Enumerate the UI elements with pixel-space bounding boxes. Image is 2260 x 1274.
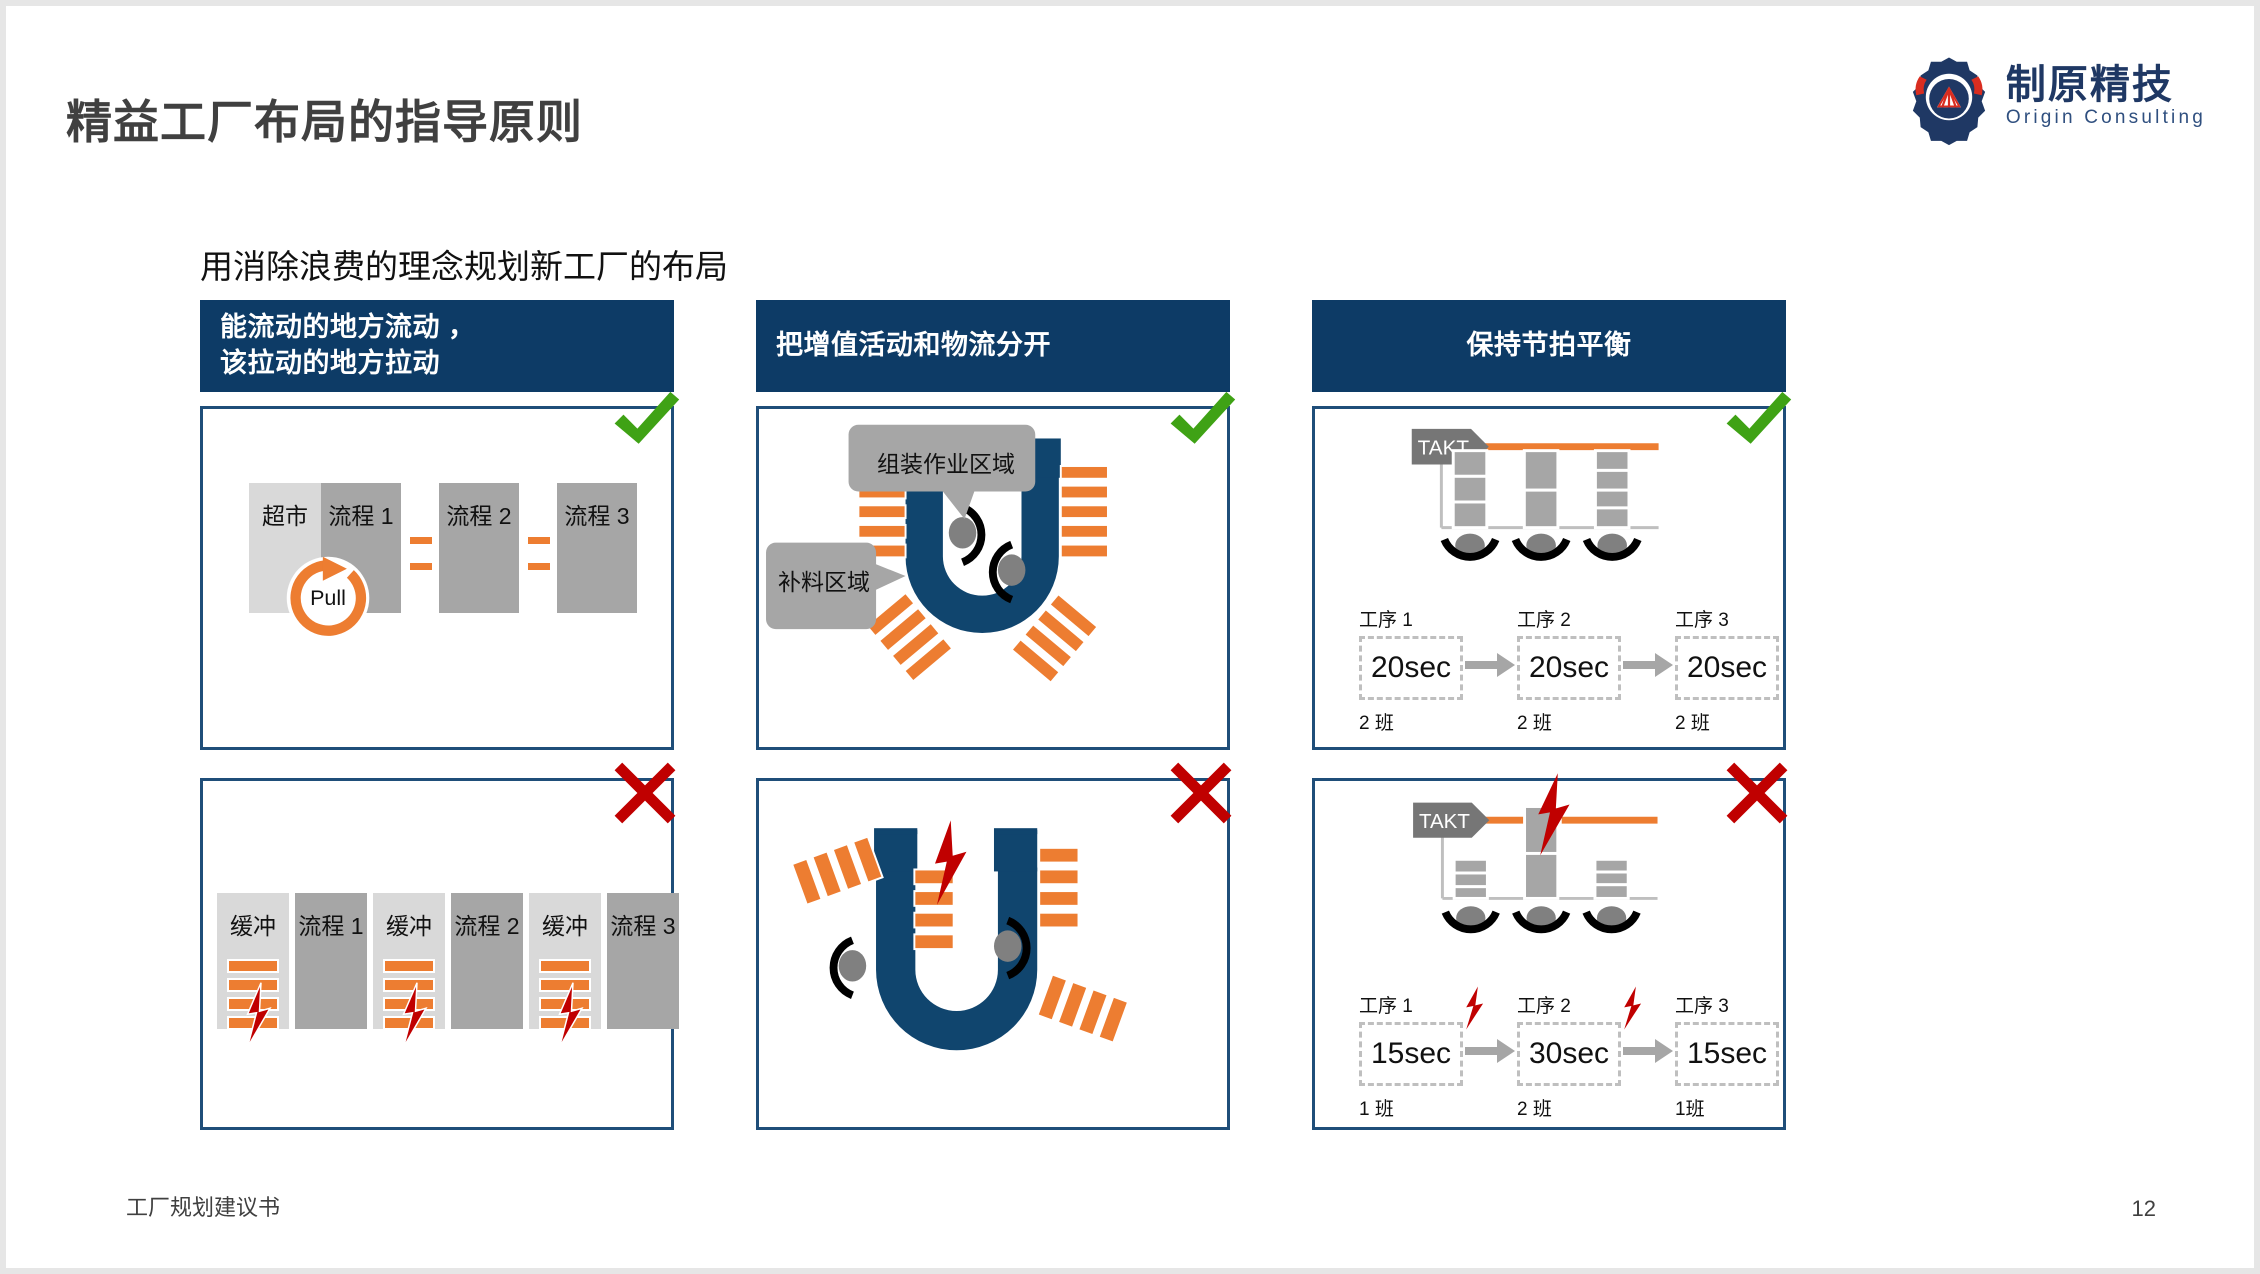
sequence-step-label: 工序 2 [1517, 991, 1621, 1018]
sequence-arrow-icon [1621, 1018, 1675, 1082]
problem-bolt-icon [399, 981, 429, 1049]
callout-replenish-area-label: 补料区域 [773, 545, 875, 615]
sequence-step: 工序 2 30sec 2 班 [1517, 991, 1621, 1121]
sequence-arrow-icon [1463, 1018, 1517, 1082]
problem-bolt-icon [243, 981, 273, 1049]
brand-logo: 制原精技 Origin Consulting [1906, 54, 2206, 140]
check-icon [607, 383, 683, 459]
gear-icon [1906, 54, 1992, 140]
sequence-step-time: 30sec [1529, 1037, 1609, 1071]
sequence-step-time-box: 20sec [1359, 636, 1463, 700]
sequence-step-time-box: 20sec [1517, 636, 1621, 700]
process-box-label: 流程 1 [298, 907, 363, 1029]
sequence-step-shifts: 2 班 [1675, 708, 1779, 735]
sequence-step-label: 工序 2 [1517, 605, 1621, 632]
sequence-step-time: 15sec [1371, 1037, 1451, 1071]
problem-bolt-icon [1461, 984, 1487, 1032]
column-takt-balance: 保持节拍平衡 TAKT [1312, 300, 1786, 1130]
sequence-step-time-box: 30sec [1517, 1022, 1621, 1086]
takt-balance-chart-bad: TAKT [1315, 785, 1783, 961]
sequence-step-time-box: 15sec [1675, 1022, 1779, 1086]
process-box-label: 流程 3 [610, 907, 675, 1029]
problem-bolt-icon [555, 981, 585, 1049]
cross-icon [1719, 755, 1795, 831]
takt-label-bad: TAKT [1419, 810, 1470, 833]
problem-bolt-icon [1619, 984, 1645, 1032]
sequence-step-shifts: 2 班 [1517, 708, 1621, 735]
sequence-step: 工序 1 15sec 1 班 [1359, 991, 1463, 1121]
process-box: 流程 3 [557, 483, 637, 613]
sequence-step-shifts: 1 班 [1359, 1094, 1463, 1121]
sequence-step-time-box: 20sec [1675, 636, 1779, 700]
check-icon [1719, 383, 1795, 459]
sequence-step: 工序 3 15sec 1班 [1675, 991, 1779, 1121]
column-2-good-example: 组装作业区域 补料区域 [756, 406, 1230, 750]
column-3-header: 保持节拍平衡 [1312, 300, 1786, 392]
sequence-step-label: 工序 3 [1675, 605, 1779, 632]
slide: 精益工厂布局的指导原则 制原精技 Origin Consulting 用消除浪费… [0, 0, 2260, 1274]
sequence-arrow-icon [1463, 632, 1517, 696]
flow-connector [519, 483, 557, 613]
column-1-header-line2: 该拉动的地方拉动 [220, 346, 476, 382]
process-sequence-bad: 工序 1 15sec 1 班 工序 2 [1359, 991, 1779, 1121]
logo-text: 制原精技 Origin Consulting [2006, 64, 2206, 131]
process-box-label: 流程 2 [446, 497, 511, 613]
page-title: 精益工厂布局的指导原则 [66, 86, 583, 152]
sequence-step-time: 20sec [1371, 651, 1451, 685]
footer-text: 工厂规划建议书 [126, 1190, 280, 1222]
sequence-step: 工序 1 20sec 2 班 [1359, 605, 1463, 735]
sequence-step-time: 15sec [1687, 1037, 1767, 1071]
column-separate-value-logistics: 把增值活动和物流分开 [756, 300, 1230, 1130]
column-1-header: 能流动的地方流动 ， 该拉动的地方拉动 [200, 300, 674, 392]
process-box-label: 流程 3 [564, 497, 629, 613]
column-3-good-example: TAKT 工序 1 [1312, 406, 1786, 750]
column-1-header-line1: 能流动的地方流动 ， [220, 310, 476, 346]
logo-name-en: Origin Consulting [2006, 106, 2206, 131]
column-2-header: 把增值活动和物流分开 [756, 300, 1230, 392]
page-number: 12 [2132, 1196, 2156, 1222]
cross-icon [607, 755, 683, 831]
sequence-step-shifts: 1班 [1675, 1094, 1779, 1121]
column-3-bad-example: TAKT [1312, 778, 1786, 1130]
process-box: 流程 2 [439, 483, 519, 613]
callout-assembly-area-label: 组装作业区域 [857, 431, 1035, 493]
column-2-header-label: 把增值活动和物流分开 [776, 328, 1051, 364]
process-box: 流程 3 [607, 893, 679, 1029]
sequence-step-shifts: 2 班 [1359, 708, 1463, 735]
sequence-step-label: 工序 1 [1359, 991, 1463, 1018]
column-2-bad-example [756, 778, 1230, 1130]
check-icon [1163, 383, 1239, 459]
process-box: 流程 1 [295, 893, 367, 1029]
sequence-step-time: 20sec [1687, 651, 1767, 685]
process-box: 流程 2 [451, 893, 523, 1029]
slide-inner: 精益工厂布局的指导原则 制原精技 Origin Consulting 用消除浪费… [16, 16, 2244, 1258]
cross-icon [1163, 755, 1239, 831]
takt-balance-chart-good: TAKT [1315, 417, 1783, 585]
sequence-step: 工序 2 20sec 2 班 [1517, 605, 1621, 735]
sequence-step-label: 工序 1 [1359, 605, 1463, 632]
sequence-step-shifts: 2 班 [1517, 1094, 1621, 1121]
pull-loop-icon: Pull [285, 555, 371, 641]
svg-text:Pull: Pull [310, 586, 346, 610]
u-cell-layout-bad [759, 781, 1227, 1127]
process-box-label: 流程 2 [454, 907, 519, 1029]
process-chain-bad: 缓冲 流程 1 缓冲 流程 2 缓冲 [217, 893, 679, 1029]
process-sequence-good: 工序 1 20sec 2 班 工序 2 20sec 2 班 [1359, 605, 1779, 735]
column-3-header-label: 保持节拍平衡 [1467, 328, 1632, 364]
column-flow-pull: 能流动的地方流动 ， 该拉动的地方拉动 超市 流程 1 [200, 300, 674, 1130]
sequence-arrow-icon [1621, 632, 1675, 696]
logo-name-cn: 制原精技 [2006, 64, 2206, 106]
column-1-good-example: 超市 流程 1 流程 2 流程 3 [200, 406, 674, 750]
column-1-bad-example: 缓冲 流程 1 缓冲 流程 2 缓冲 [200, 778, 674, 1130]
sequence-step: 工序 3 20sec 2 班 [1675, 605, 1779, 735]
sequence-step-label: 工序 3 [1675, 991, 1779, 1018]
sequence-step-time-box: 15sec [1359, 1022, 1463, 1086]
sequence-step-time: 20sec [1529, 651, 1609, 685]
flow-connector [401, 483, 439, 613]
subtitle: 用消除浪费的理念规划新工厂的布局 [200, 240, 728, 288]
